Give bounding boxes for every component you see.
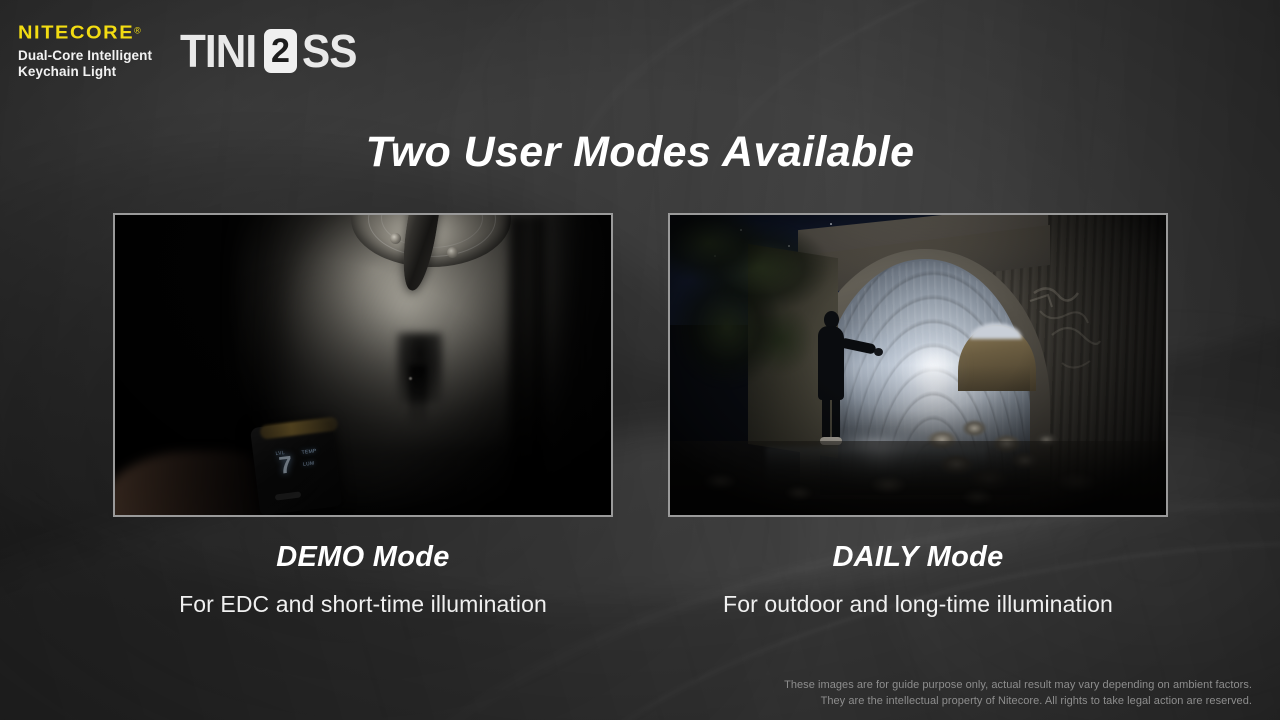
footer-disclaimer-line2: They are the intellectual property of Ni…	[784, 694, 1252, 710]
daily-photo-scene	[670, 215, 1166, 515]
demo-mode-photo: LVL 7 TEMP LUM	[113, 213, 613, 517]
panel-description-daily: For outdoor and long-time illumination	[668, 591, 1168, 618]
panel-title-daily: DAILY Mode	[668, 541, 1168, 574]
panel-description-demo: For EDC and short-time illumination	[113, 591, 613, 618]
footer-disclaimer-line1: These images are for guide purpose only,…	[784, 678, 1252, 694]
brand-name-text: NITECORE	[18, 24, 134, 42]
panel-demo-mode: LVL 7 TEMP LUM DEMO Mode For EDC and sho…	[113, 213, 613, 618]
panel-title-demo: DEMO Mode	[113, 541, 613, 574]
panel-daily-mode: DAILY Mode For outdoor and long-time ill…	[668, 213, 1168, 618]
brand-tagline-line1: Dual-Core Intelligent	[18, 48, 152, 64]
brand-tagline: Dual-Core Intelligent Keychain Light	[18, 48, 152, 81]
model-prefix-text: TINI	[180, 28, 256, 74]
brand-block: NITECORE® Dual-Core Intelligent Keychain…	[18, 24, 361, 81]
model-generation-badge: 2	[264, 29, 297, 73]
model-suffix-text: SS	[302, 28, 357, 74]
slide-root: NITECORE® Dual-Core Intelligent Keychain…	[0, 0, 1280, 720]
daily-photo-vignette	[670, 215, 1166, 515]
demo-photo-grain	[115, 215, 611, 515]
daily-mode-photo	[668, 213, 1168, 517]
registered-trademark-icon: ®	[134, 26, 141, 36]
demo-photo-scene: LVL 7 TEMP LUM	[115, 215, 611, 515]
product-model-logotype: TINI 2 SS	[180, 28, 361, 74]
brand-logo: NITECORE® Dual-Core Intelligent Keychain…	[18, 24, 152, 81]
page-title: Two User Modes Available	[0, 128, 1280, 177]
footer-disclaimer: These images are for guide purpose only,…	[784, 678, 1252, 710]
brand-tagline-line2: Keychain Light	[18, 64, 152, 80]
brand-wordmark: NITECORE®	[18, 24, 152, 44]
mode-panels: LVL 7 TEMP LUM DEMO Mode For EDC and sho…	[113, 213, 1168, 618]
